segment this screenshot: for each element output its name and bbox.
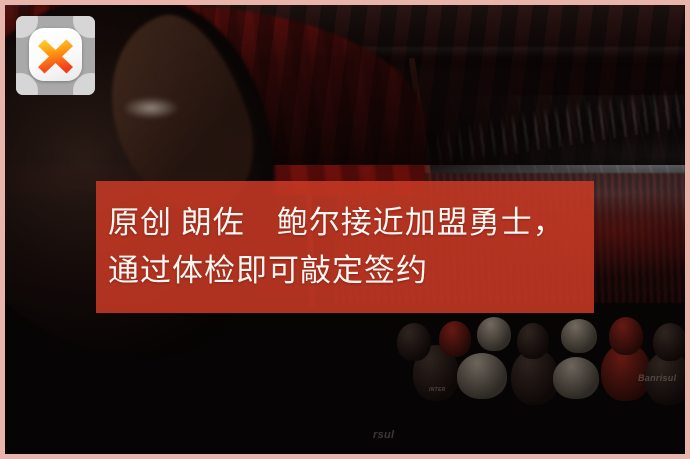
article-title-banner: 原创 朗佐 鲍尔接近加盟勇士，通过体检即可敲定签约: [96, 181, 594, 313]
background-photo: Banrisul rsul INTER 原创 朗佐 鲍尔接近加盟勇士，通过体检即…: [5, 5, 685, 454]
broken-image-icon[interactable]: [16, 16, 95, 95]
article-title-text: 原创 朗佐 鲍尔接近加盟勇士，通过体检即可敲定签约: [108, 199, 580, 295]
x-mark-icon: [29, 28, 82, 81]
screenshot-root: Banrisul rsul INTER 原创 朗佐 鲍尔接近加盟勇士，通过体检即…: [0, 0, 690, 459]
